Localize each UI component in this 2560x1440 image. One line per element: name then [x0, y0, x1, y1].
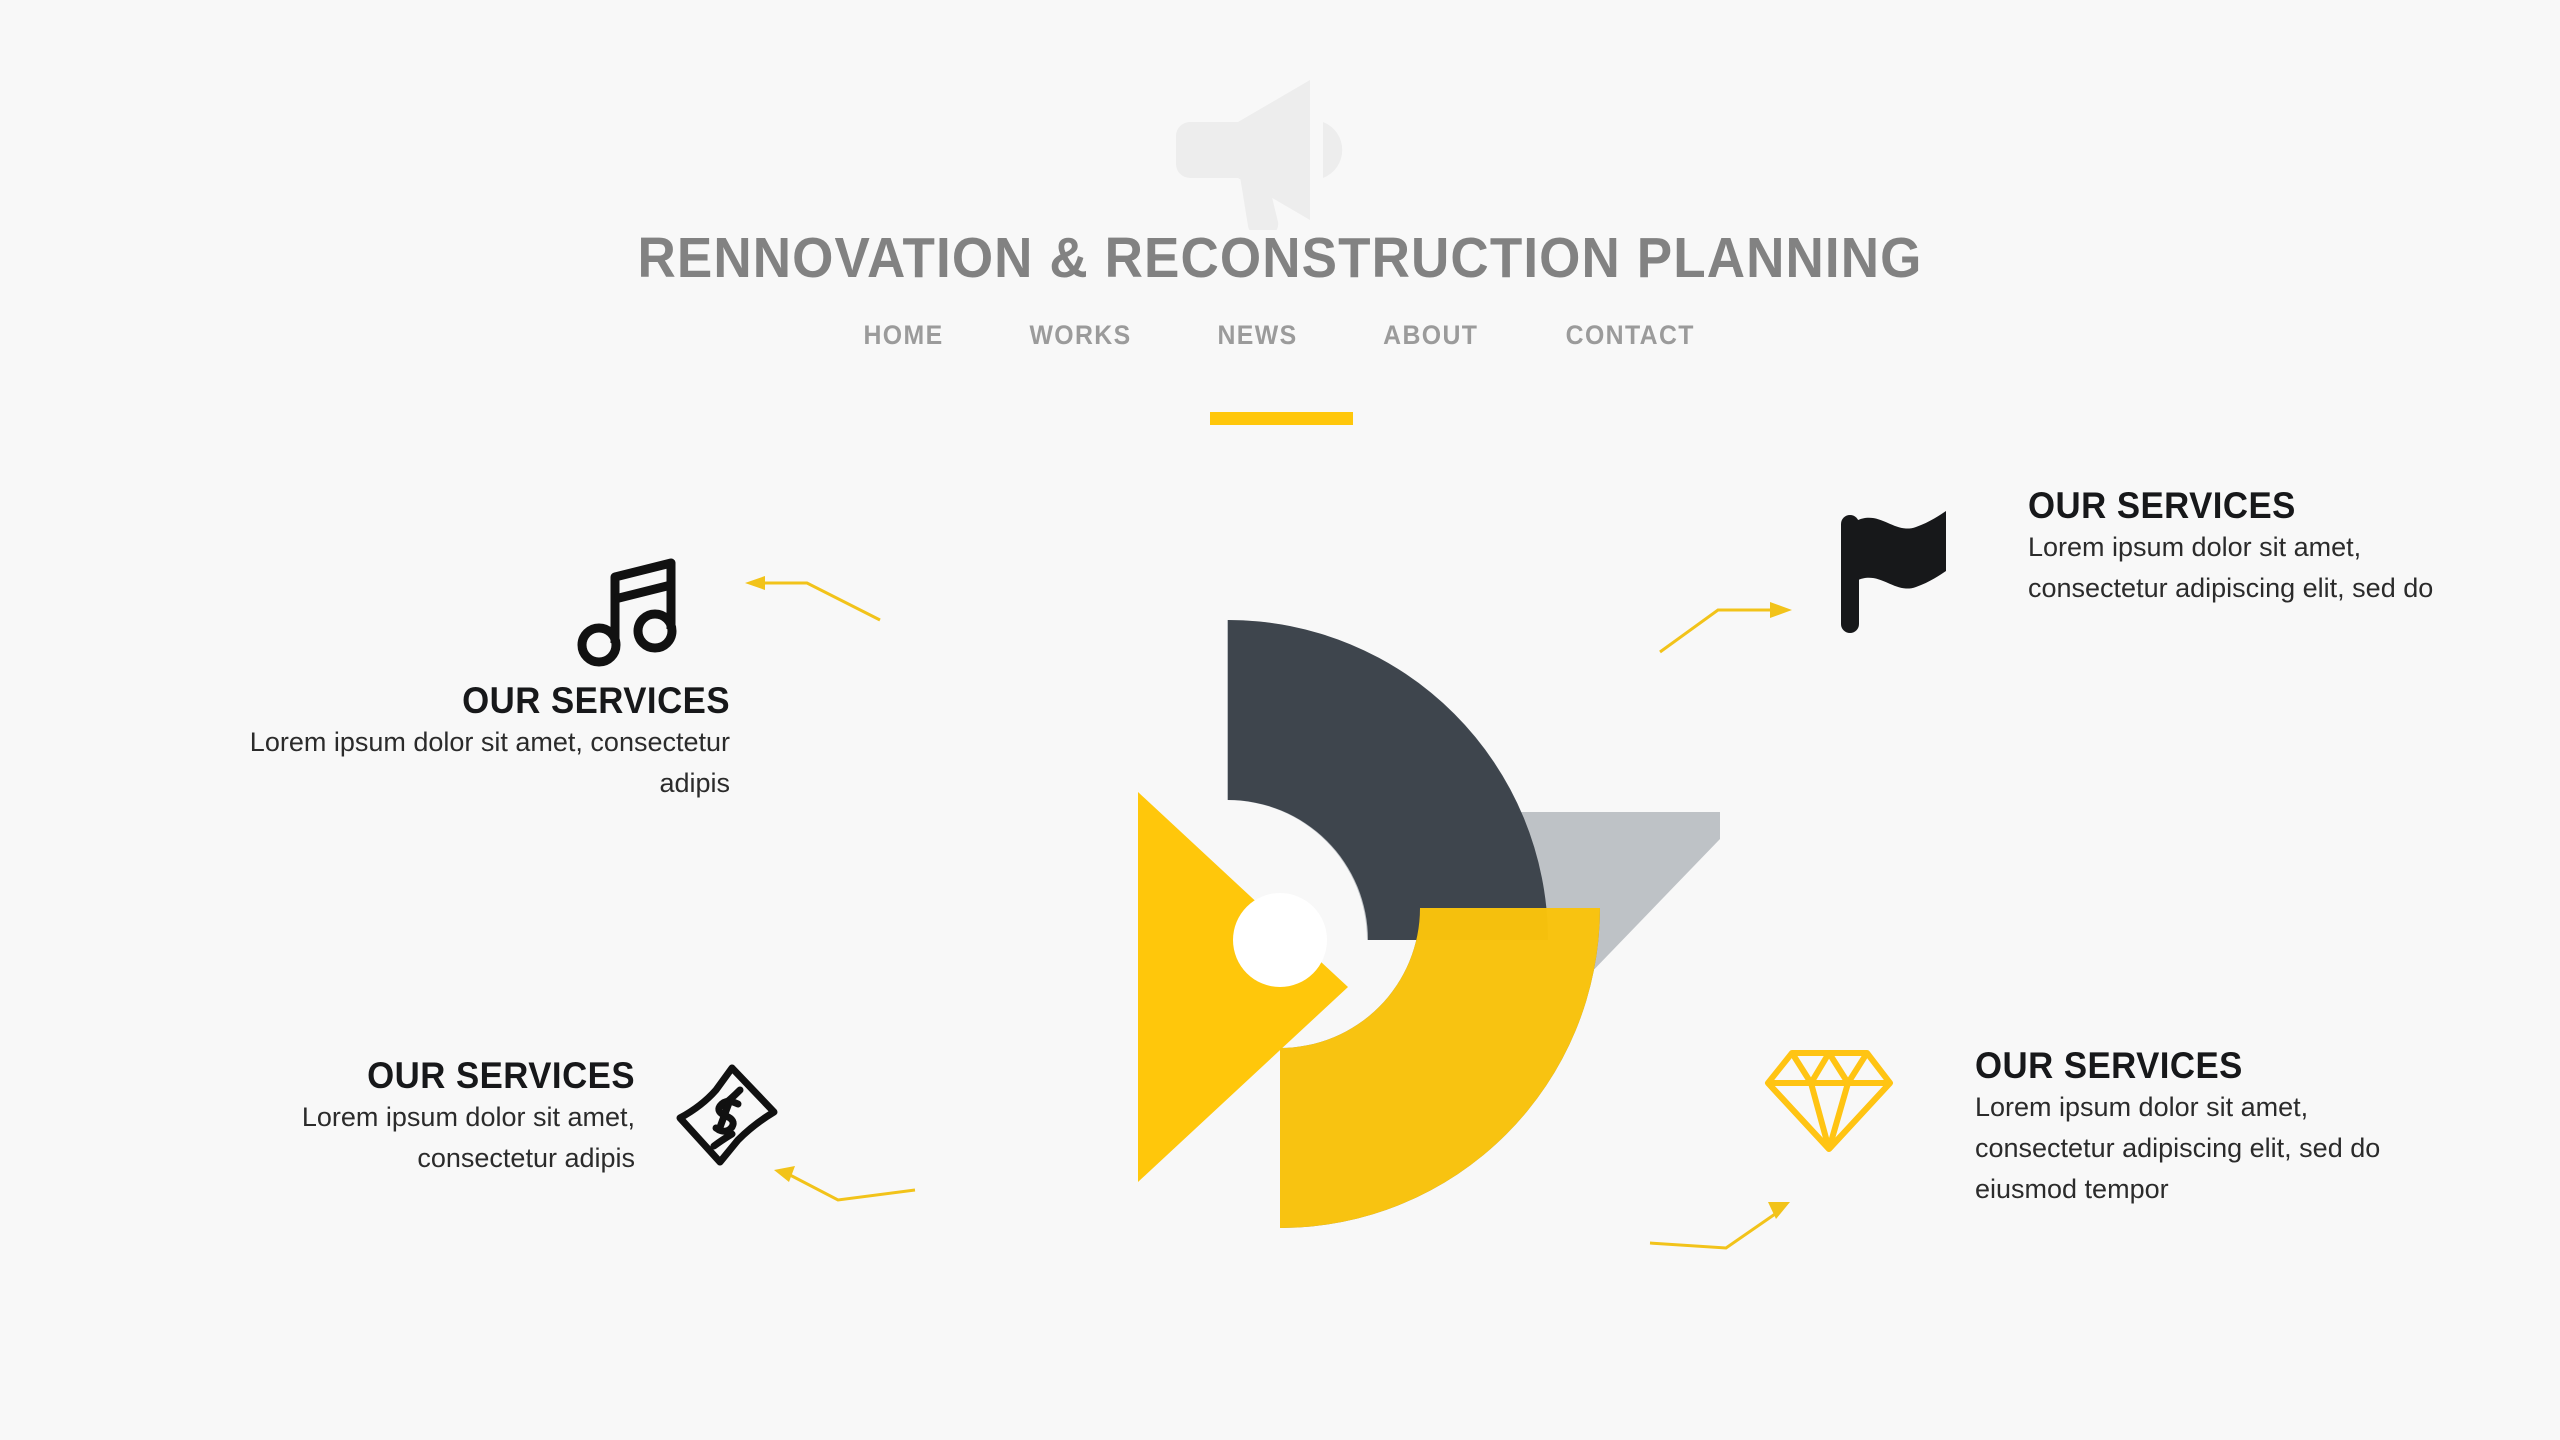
- segment-left-arc: [1280, 908, 1600, 1228]
- page-title: RENNOVATION & RECONSTRUCTION PLANNING: [90, 225, 2471, 291]
- main-navigation: HOME WORKS NEWS ABOUT CONTACT: [0, 320, 2560, 351]
- service-title: OUR SERVICES: [232, 680, 730, 722]
- nav-item-works[interactable]: WORKS: [1029, 320, 1131, 351]
- infographic-page: RENNOVATION & RECONSTRUCTION PLANNING HO…: [0, 0, 2560, 1440]
- segment-overlap: [1227, 620, 1547, 940]
- pinwheel-center-dot: [1233, 893, 1327, 987]
- service-title: OUR SERVICES: [2028, 485, 2423, 527]
- nav-item-about[interactable]: ABOUT: [1383, 320, 1478, 351]
- service-body: Lorem ipsum dolor sit amet, consectetur …: [200, 722, 730, 804]
- connector-top-left: [745, 576, 880, 620]
- four-segment-pinwheel-diagram: [880, 520, 1720, 1360]
- nav-active-indicator: [1210, 412, 1353, 425]
- flag-icon: [1832, 505, 1957, 635]
- service-block-top-left: OUR SERVICES Lorem ipsum dolor sit amet,…: [200, 680, 730, 804]
- nav-item-home[interactable]: HOME: [863, 320, 943, 351]
- service-body: Lorem ipsum dolor sit amet, consectetur …: [1975, 1087, 2455, 1210]
- service-body: Lorem ipsum dolor sit amet, consectetur …: [185, 1097, 635, 1179]
- service-title: OUR SERVICES: [212, 1055, 635, 1097]
- service-block-bottom-right: OUR SERVICES Lorem ipsum dolor sit amet,…: [1975, 1045, 2455, 1210]
- diamond-icon: [1762, 1045, 1897, 1155]
- money-bill-icon: [672, 1060, 782, 1170]
- service-title: OUR SERVICES: [1975, 1045, 2426, 1087]
- service-block-top-right: OUR SERVICES Lorem ipsum dolor sit amet,…: [2028, 485, 2448, 609]
- music-note-icon: [575, 555, 685, 670]
- nav-item-contact[interactable]: CONTACT: [1566, 320, 1695, 351]
- nav-item-news[interactable]: NEWS: [1217, 320, 1297, 351]
- megaphone-icon: [1160, 70, 1400, 230]
- service-body: Lorem ipsum dolor sit amet, consectetur …: [2028, 527, 2448, 609]
- service-block-bottom-left: OUR SERVICES Lorem ipsum dolor sit amet,…: [185, 1055, 635, 1179]
